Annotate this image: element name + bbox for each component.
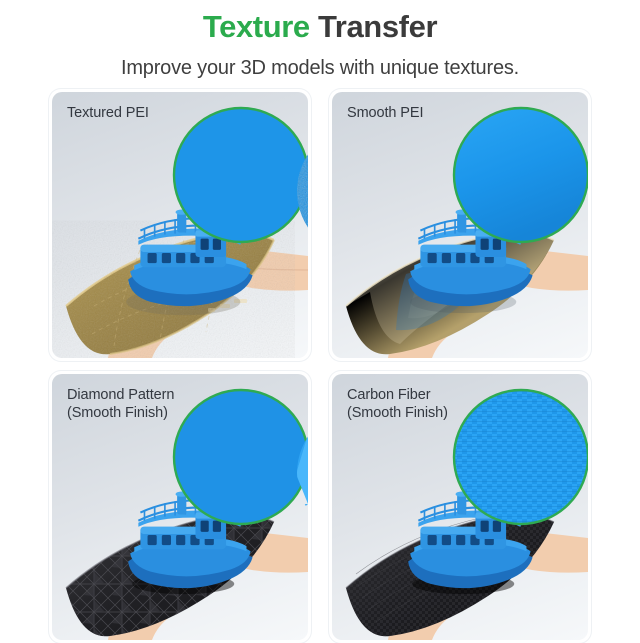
page-title-rest: Transfer [310, 9, 437, 44]
magnifier-textured-pei [174, 108, 308, 242]
page-title: Texture Transfer [0, 8, 640, 46]
magnifier-smooth-pei [454, 108, 588, 242]
panel-label-smooth-pei: Smooth PEI [347, 104, 423, 122]
panel-label-textured-pei: Textured PEI [67, 104, 149, 122]
panel-carbon-fiber[interactable]: Carbon Fiber (Smooth Finish) [329, 371, 591, 643]
magnifier-diamond [174, 390, 308, 526]
panel-label-carbon-fiber: Carbon Fiber (Smooth Finish) [347, 386, 448, 422]
scene-smooth-pei [332, 92, 588, 358]
panel-smooth-pei[interactable]: Smooth PEI [329, 89, 591, 361]
page-header: Texture Transfer Improve your 3D models … [0, 0, 640, 80]
panel-diamond-pattern[interactable]: Diamond Pattern (Smooth Finish) [49, 371, 311, 643]
panel-label-diamond-pattern: Diamond Pattern (Smooth Finish) [67, 386, 174, 422]
panel-textured-pei[interactable]: Textured PEI [49, 89, 311, 361]
texture-panel-grid: Textured PEI [0, 86, 640, 640]
illustration-smooth-pei [332, 92, 588, 358]
illustration-textured-pei [52, 92, 308, 358]
magnifier-carbon [454, 390, 588, 524]
page-title-accent: Texture [203, 9, 310, 44]
scene-textured-pei [52, 92, 308, 358]
page-subtitle: Improve your 3D models with unique textu… [0, 56, 640, 80]
